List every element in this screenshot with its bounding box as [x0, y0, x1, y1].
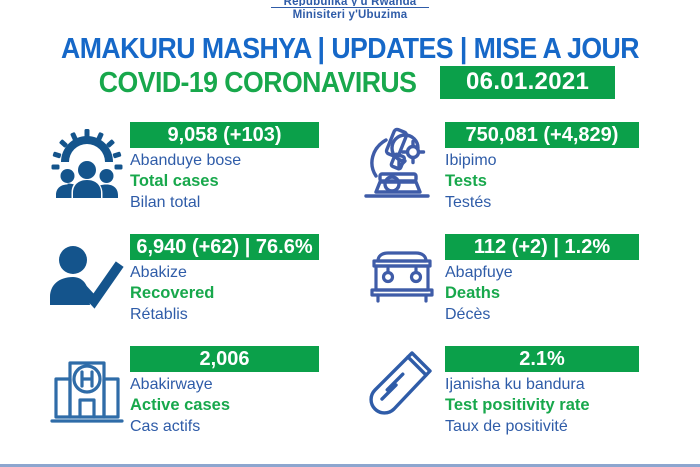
stat-value: 6,940 (+62) | 76.6% [130, 234, 319, 260]
stat-label-fr: Cas actifs [130, 416, 345, 437]
stat-body: 2,006 Abakirwaye Active cases Cas actifs [130, 342, 345, 437]
stats-grid: 9,058 (+103) Abanduye bose Total cases B… [0, 112, 700, 451]
stat-label-fr: Décès [445, 304, 700, 325]
stat-card-deaths: 112 (+2) | 1.2% Abapfuye Deaths Décès [345, 224, 700, 336]
date-badge: 06.01.2021 [440, 66, 615, 99]
stat-label-rw: Abanduye bose [130, 150, 345, 171]
headline-covid: COVID-19 CORONAVIRUS [99, 68, 417, 98]
stat-label-rw: Abakirwaye [130, 374, 345, 395]
headline-row: COVID-19 CORONAVIRUS 06.01.2021 [0, 66, 700, 99]
masthead-divider [271, 7, 429, 8]
covid-update-poster: Repubulika y'u Rwanda Minisiteri y'Ubuzi… [0, 0, 700, 467]
coffin-icon [359, 230, 445, 322]
stat-label-fr: Rétablis [130, 304, 345, 325]
stat-value: 9,058 (+103) [130, 122, 319, 148]
stat-card-recovered: 6,940 (+62) | 76.6% Abakize Recovered Ré… [0, 224, 345, 336]
stat-label-en: Active cases [130, 395, 345, 416]
stat-label-rw: Ibipimo [445, 150, 700, 171]
stat-body: 6,940 (+62) | 76.6% Abakize Recovered Ré… [130, 230, 345, 325]
stat-card-active-cases: 2,006 Abakirwaye Active cases Cas actifs [0, 336, 345, 451]
ministry-name: Minisiteri y'Ubuzima [0, 9, 700, 22]
stat-label-rw: Abapfuye [445, 262, 700, 283]
stat-card-tests: 750,081 (+4,829) Ibipimo Tests Testés [345, 112, 700, 224]
stat-label-fr: Testés [445, 192, 700, 213]
stat-label-fr: Taux de positivité [445, 416, 700, 437]
stat-value: 112 (+2) | 1.2% [445, 234, 639, 260]
microscope-icon [359, 118, 445, 210]
stat-body: 9,058 (+103) Abanduye bose Total cases B… [130, 118, 345, 213]
stat-value: 2.1% [445, 346, 639, 372]
stat-body: 112 (+2) | 1.2% Abapfuye Deaths Décès [445, 230, 700, 325]
test-tube-icon [359, 342, 445, 434]
stat-card-positivity: 2.1% Ijanisha ku bandura Test positivity… [345, 336, 700, 451]
stat-label-rw: Abakize [130, 262, 345, 283]
stat-label-en: Test positivity rate [445, 395, 700, 416]
stat-label-en: Tests [445, 171, 700, 192]
stat-label-fr: Bilan total [130, 192, 345, 213]
people-virus-icon [44, 118, 130, 210]
ministry-masthead: Repubulika y'u Rwanda Minisiteri y'Ubuzi… [0, 0, 700, 22]
hospital-icon [44, 342, 130, 434]
stat-body: 2.1% Ijanisha ku bandura Test positivity… [445, 342, 700, 437]
stat-value: 750,081 (+4,829) [445, 122, 639, 148]
stat-label-rw: Ijanisha ku bandura [445, 374, 700, 395]
stat-value: 2,006 [130, 346, 319, 372]
stat-label-en: Deaths [445, 283, 700, 304]
stat-card-total-cases: 9,058 (+103) Abanduye bose Total cases B… [0, 112, 345, 224]
person-check-icon [44, 230, 130, 322]
country-name: Repubulika y'u Rwanda [0, 0, 700, 6]
headline-block: AMAKURU MASHYA | UPDATES | MISE A JOUR C… [0, 34, 700, 99]
stat-label-en: Recovered [130, 283, 345, 304]
stat-label-en: Total cases [130, 171, 345, 192]
stat-body: 750,081 (+4,829) Ibipimo Tests Testés [445, 118, 700, 213]
headline-updates: AMAKURU MASHYA | UPDATES | MISE A JOUR [28, 34, 672, 64]
